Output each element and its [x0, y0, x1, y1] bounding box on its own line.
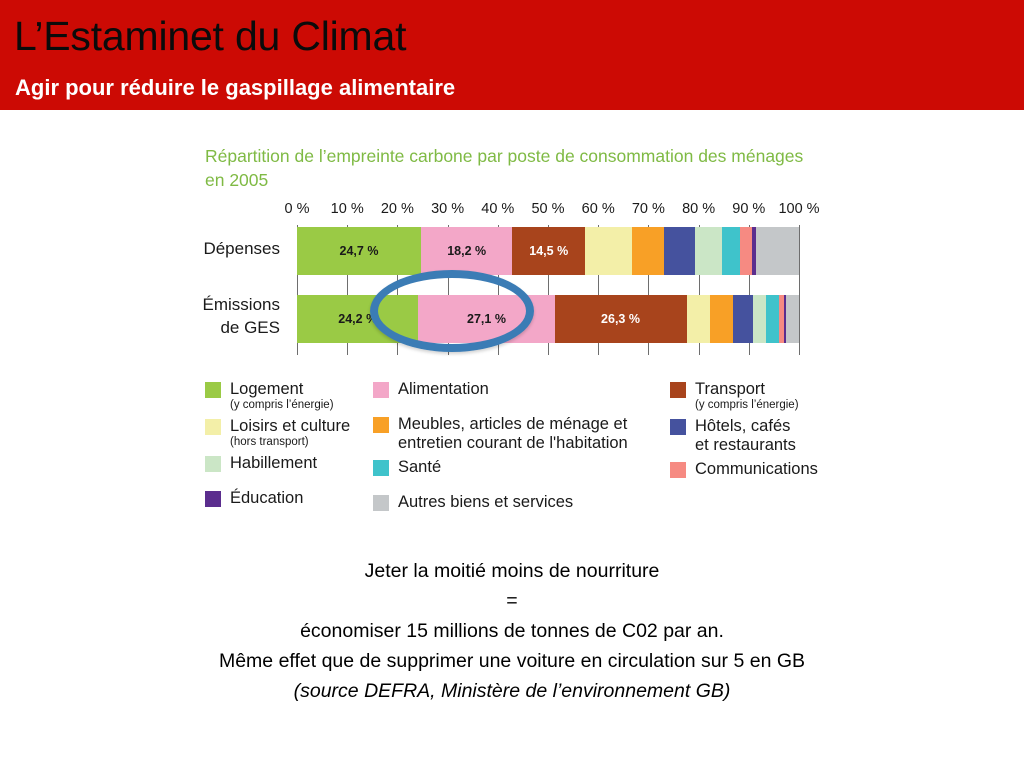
caption-line: = [0, 586, 1024, 616]
legend-item-text: Éducation [230, 489, 365, 508]
legend-item: Communications [670, 460, 870, 490]
legend-item-label: Communications [695, 460, 870, 479]
legend-item-label: Alimentation [398, 380, 663, 399]
caption-line: Même effet que de supprimer une voiture … [0, 646, 1024, 676]
bar-segment: 18,2 % [421, 227, 512, 275]
legend-item-text: Alimentation [398, 380, 663, 399]
bar-segment-value-label: 24,7 % [340, 244, 379, 258]
x-axis-tick-label: 20 % [381, 201, 414, 217]
caption-line: (source DEFRA, Ministère de l’environnem… [0, 676, 1024, 706]
bar-segment: 26,3 % [555, 295, 687, 343]
legend-item-label: Santé [398, 458, 663, 477]
bar-segment [753, 295, 766, 343]
legend-item-label: Meubles, articles de ménage et [398, 415, 663, 434]
legend-item-label: Éducation [230, 489, 365, 508]
bar-segment [687, 295, 710, 343]
legend-item: Transport(y compris l’énergie) [670, 380, 870, 412]
legend-item: Logement(y compris l’énergie) [205, 380, 365, 412]
bar-segment-value-label: 26,3 % [601, 312, 640, 326]
legend-item: Meubles, articles de ménage etentretien … [373, 415, 663, 453]
legend-item-sublabel: (y compris l’énergie) [695, 399, 870, 412]
bar-segment [786, 295, 799, 343]
x-axis-tick-label: 10 % [331, 201, 364, 217]
color-swatch-icon [670, 462, 686, 478]
color-swatch-icon [373, 495, 389, 511]
legend-item-text: Autres biens et services [398, 493, 663, 512]
legend-item-text: Logement(y compris l’énergie) [230, 380, 365, 412]
legend-item-text: Communications [695, 460, 870, 479]
x-axis-tick-labels: 0 %10 %20 %30 %40 %50 %60 %70 %80 %90 %1… [276, 201, 824, 221]
bar-category-label-depenses: Dépenses [150, 237, 280, 260]
x-axis-tick-label: 70 % [632, 201, 665, 217]
page-subtitle: Agir pour réduire le gaspillage alimenta… [15, 74, 455, 102]
legend-item: Autres biens et services [373, 493, 663, 523]
bar-segment [710, 295, 733, 343]
bar-segment [740, 227, 752, 275]
x-axis-tick-label: 80 % [682, 201, 715, 217]
color-swatch-icon [205, 419, 221, 435]
caption-line: économiser 15 millions de tonnes de C02 … [0, 616, 1024, 646]
legend-item-text: Loisirs et culture(hors transport) [230, 417, 365, 449]
bar-segment [632, 227, 664, 275]
color-swatch-icon [205, 456, 221, 472]
legend-item-label: Logement [230, 380, 365, 399]
stacked-bar-plot-area: 24,7 %18,2 %14,5 % 24,2 %27,1 %26,3 % [297, 225, 799, 355]
bar-segment: 24,7 % [297, 227, 421, 275]
legend-item-label: Transport [695, 380, 870, 399]
x-axis-tick-label: 50 % [531, 201, 564, 217]
legend-item-text: Hôtels, caféset restaurants [695, 417, 870, 455]
page-title: L’Estaminet du Climat [14, 10, 406, 62]
bar-segment [766, 295, 779, 343]
bar-category-label-line: Émissions [150, 293, 280, 316]
x-axis-tick-label: 100 % [778, 201, 819, 217]
legend-item: Hôtels, caféset restaurants [670, 417, 870, 455]
x-axis-tick-label: 0 % [285, 201, 310, 217]
legend-item: Éducation [205, 489, 365, 519]
bar-segment-value-label: 18,2 % [447, 244, 486, 258]
legend-item-text: Transport(y compris l’énergie) [695, 380, 870, 412]
color-swatch-icon [373, 382, 389, 398]
bar-segment [733, 295, 753, 343]
bar-segment [722, 227, 740, 275]
legend-column: Logement(y compris l’énergie)Loisirs et … [205, 380, 365, 524]
x-axis-tick-label: 40 % [481, 201, 514, 217]
color-swatch-icon [205, 382, 221, 398]
bar-segment: 14,5 % [512, 227, 585, 275]
legend-item-label: Hôtels, cafés [695, 417, 870, 436]
bar-category-label-emissions-ges: Émissionsde GES [150, 293, 280, 339]
x-axis-tick-label: 90 % [732, 201, 765, 217]
legend-item-sublabel: (hors transport) [230, 436, 365, 449]
color-swatch-icon [373, 460, 389, 476]
legend-column: AlimentationMeubles, articles de ménage … [373, 380, 663, 528]
bar-segment [664, 227, 694, 275]
legend-item-text: Habillement [230, 454, 365, 473]
legend-item: Loisirs et culture(hors transport) [205, 417, 365, 449]
bar-segment [695, 227, 722, 275]
legend-item: Alimentation [373, 380, 663, 410]
legend-column: Transport(y compris l’énergie)Hôtels, ca… [670, 380, 870, 495]
color-swatch-icon [205, 491, 221, 507]
legend-item-sublabel: (y compris l’énergie) [230, 399, 365, 412]
legend-item-label: Habillement [230, 454, 365, 473]
legend-item-label: Autres biens et services [398, 493, 663, 512]
bar-segment [756, 227, 799, 275]
chart-legend: Logement(y compris l’énergie)Loisirs et … [205, 380, 865, 530]
caption-line: Jeter la moitié moins de nourriture [0, 556, 1024, 586]
legend-item-label: Loisirs et culture [230, 417, 365, 436]
color-swatch-icon [670, 419, 686, 435]
bar-segment-value-label: 14,5 % [529, 244, 568, 258]
x-axis-tick-label: 60 % [582, 201, 615, 217]
highlight-ellipse-annotation [370, 270, 534, 352]
legend-item-sublabel: et restaurants [695, 436, 870, 455]
legend-item: Habillement [205, 454, 365, 484]
x-axis-tick-label: 30 % [431, 201, 464, 217]
bar-category-label-line: de GES [150, 316, 280, 339]
gridline [799, 225, 800, 355]
chart-figure: Répartition de l’empreinte carbone par p… [0, 130, 1024, 540]
header-banner: L’Estaminet du Climat Agir pour réduire … [0, 0, 1024, 110]
bar-category-label-line: Dépenses [150, 237, 280, 260]
legend-item-text: Santé [398, 458, 663, 477]
bar-segment [585, 227, 632, 275]
legend-item-text: Meubles, articles de ménage etentretien … [398, 415, 663, 453]
color-swatch-icon [373, 417, 389, 433]
legend-item: Santé [373, 458, 663, 488]
chart-title: Répartition de l’empreinte carbone par p… [205, 144, 825, 192]
table-row: 24,7 %18,2 %14,5 % [297, 227, 799, 275]
caption-block: Jeter la moitié moins de nourriture=écon… [0, 556, 1024, 706]
legend-item-sublabel: entretien courant de l'habitation [398, 434, 663, 453]
color-swatch-icon [670, 382, 686, 398]
